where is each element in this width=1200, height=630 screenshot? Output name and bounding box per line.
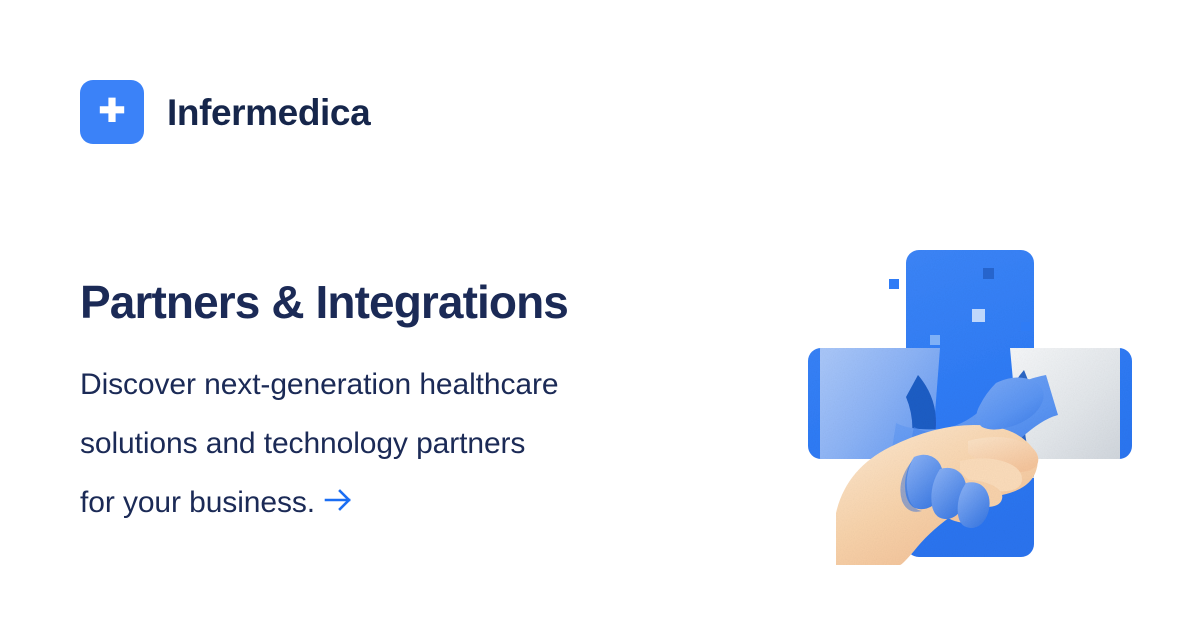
hero-description: Discover next-generation healthcare solu… — [80, 328, 705, 532]
medical-cross-icon — [80, 80, 144, 144]
hero-description-line-1: Discover next-generation healthcare — [80, 368, 558, 401]
handshake-medical-cross-illustration — [800, 235, 1140, 565]
accent-square — [983, 268, 994, 279]
accent-square — [972, 309, 985, 322]
social-share-card: Infermedica Partners & Integrations Disc… — [0, 0, 1200, 630]
page-title: Partners & Integrations — [80, 278, 740, 328]
brand-lockup[interactable]: Infermedica — [80, 80, 370, 144]
accent-square — [1021, 322, 1030, 331]
brand-name: Infermedica — [167, 94, 370, 131]
hero-copy: Partners & Integrations Discover next-ge… — [80, 278, 740, 532]
accent-square — [930, 335, 940, 345]
accent-square — [889, 279, 899, 289]
hero-description-line-2: solutions and technology partners — [80, 427, 525, 460]
hero-description-line-3: for your business. — [80, 486, 315, 519]
arrow-right-icon[interactable] — [324, 486, 354, 514]
